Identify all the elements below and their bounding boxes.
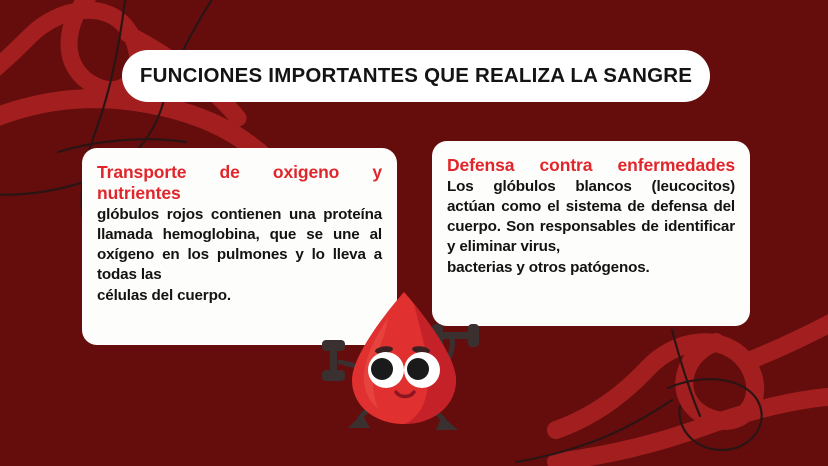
page-title: FUNCIONES IMPORTANTES QUE REALIZA LA SAN… [140, 64, 692, 88]
card-body-text: glóbulos rojos contienen una proteína ll… [97, 206, 382, 284]
ribbon-bottom-right [556, 318, 828, 462]
slide-canvas: FUNCIONES IMPORTANTES QUE REALIZA LA SAN… [0, 0, 828, 466]
card-body: Los glóbulos blancos (leucocitos) actúan… [447, 177, 735, 278]
card-body-lastline: bacterias y otros patógenos. [447, 258, 735, 278]
card-heading: Defensa contra enfermedades [447, 155, 735, 176]
card-heading: Transporte de oxigeno y nutrientes [97, 162, 382, 204]
slide-title-pill: FUNCIONES IMPORTANTES QUE REALIZA LA SAN… [122, 50, 710, 102]
card-body-text: Los glóbulos blancos (leucocitos) actúan… [447, 178, 735, 256]
line-art-bottom-right [516, 330, 762, 462]
blood-drop-mascot [318, 288, 518, 466]
